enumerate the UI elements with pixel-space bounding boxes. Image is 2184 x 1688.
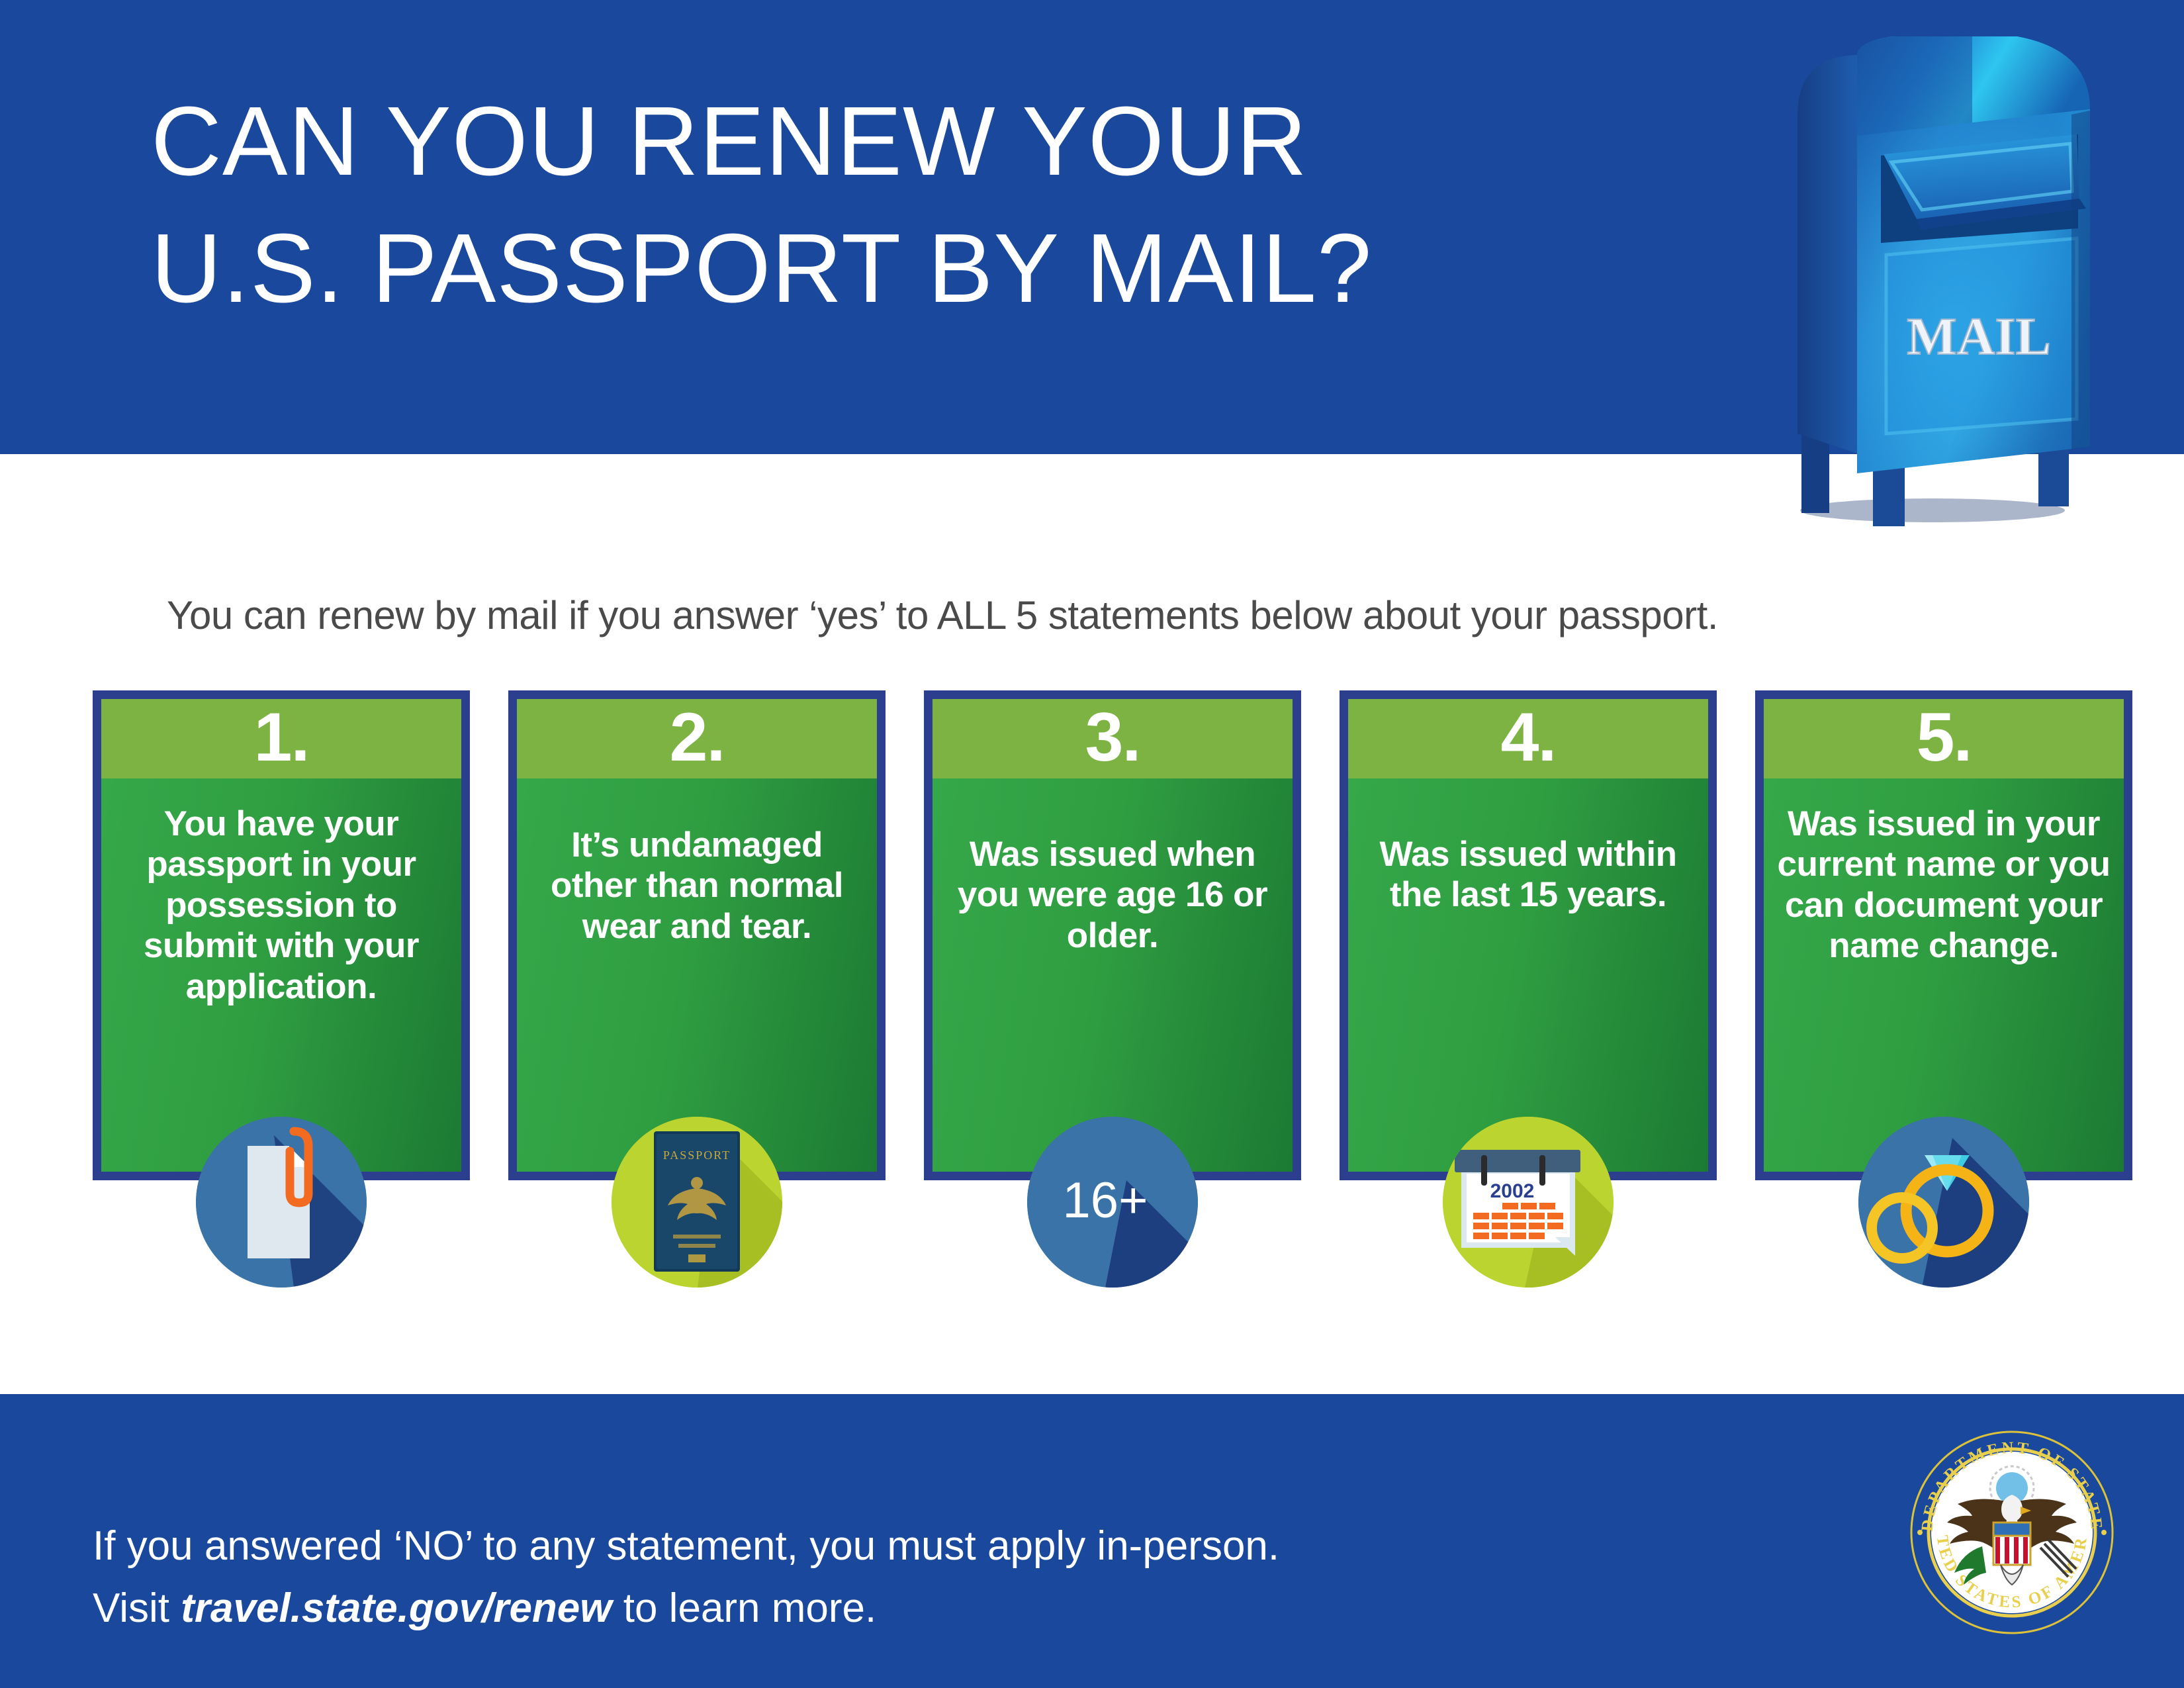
card-text-1: You have your passport in your possessio… xyxy=(101,778,461,1172)
passport-book-icon: PASSPORT xyxy=(612,1117,782,1288)
footer-line-2-suffix: to learn more. xyxy=(612,1585,877,1631)
header-band: CAN YOU RENEW YOUR U.S. PASSPORT BY MAIL… xyxy=(0,0,2184,454)
subtitle-instruction: You can renew by mail if you answer ‘yes… xyxy=(167,592,2086,638)
statement-card-3: 3. Was issued when you were age 16 or ol… xyxy=(924,690,1301,1180)
card-number-5: 5. xyxy=(1764,699,2124,778)
card-number-2: 2. xyxy=(517,699,877,778)
footer-line-2: Visit travel.state.gov/renew to learn mo… xyxy=(93,1581,1747,1636)
calendar-year-label: 2002 xyxy=(1490,1180,1535,1202)
document-paperclip-icon xyxy=(196,1117,367,1288)
department-of-state-seal: DEPARTMENT OF STATE UNITED STATES OF AME… xyxy=(1903,1423,2121,1642)
calendar-icon: 2002 xyxy=(1443,1117,1614,1288)
travel-state-gov-link[interactable]: travel.state.gov/renew xyxy=(181,1585,612,1631)
mailbox-label: MAIL xyxy=(1907,308,2051,366)
footer-line-1: If you answered ‘NO’ to any statement, y… xyxy=(93,1523,1279,1569)
wedding-rings-icon xyxy=(1858,1117,2029,1288)
age-sixteen-plus-icon: 16+ xyxy=(1027,1117,1198,1288)
card-text-4: Was issued within the last 15 years. xyxy=(1348,778,1708,1172)
svg-text:PASSPORT: PASSPORT xyxy=(663,1149,731,1162)
card-number-1: 1. xyxy=(101,699,461,778)
card-text-5: Was issued in your current name or you c… xyxy=(1764,778,2124,1172)
footer-text: If you answered ‘NO’ to any statement, y… xyxy=(93,1519,1747,1636)
card-number-4: 4. xyxy=(1348,699,1708,778)
card-text-2: It’s undamaged other than normal wear an… xyxy=(517,778,877,1172)
statement-card-5: 5. Was issued in your current name or yo… xyxy=(1755,690,2132,1180)
page-title: CAN YOU RENEW YOUR U.S. PASSPORT BY MAIL… xyxy=(151,78,1706,333)
statement-card-4: 4. Was issued within the last 15 years. … xyxy=(1340,690,1717,1180)
statement-card-1: 1. You have your passport in your posses… xyxy=(93,690,470,1180)
statement-card-2: 2. It’s undamaged other than normal wear… xyxy=(508,690,886,1180)
footer-line-2-prefix: Visit xyxy=(93,1585,181,1631)
card-text-3: Was issued when you were age 16 or older… xyxy=(933,778,1293,1172)
age-badge-label: 16+ xyxy=(1063,1172,1148,1229)
statement-cards: 1. You have your passport in your posses… xyxy=(93,690,2132,1180)
mailbox-illustration: MAIL xyxy=(1780,36,2138,526)
card-number-3: 3. xyxy=(933,699,1293,778)
